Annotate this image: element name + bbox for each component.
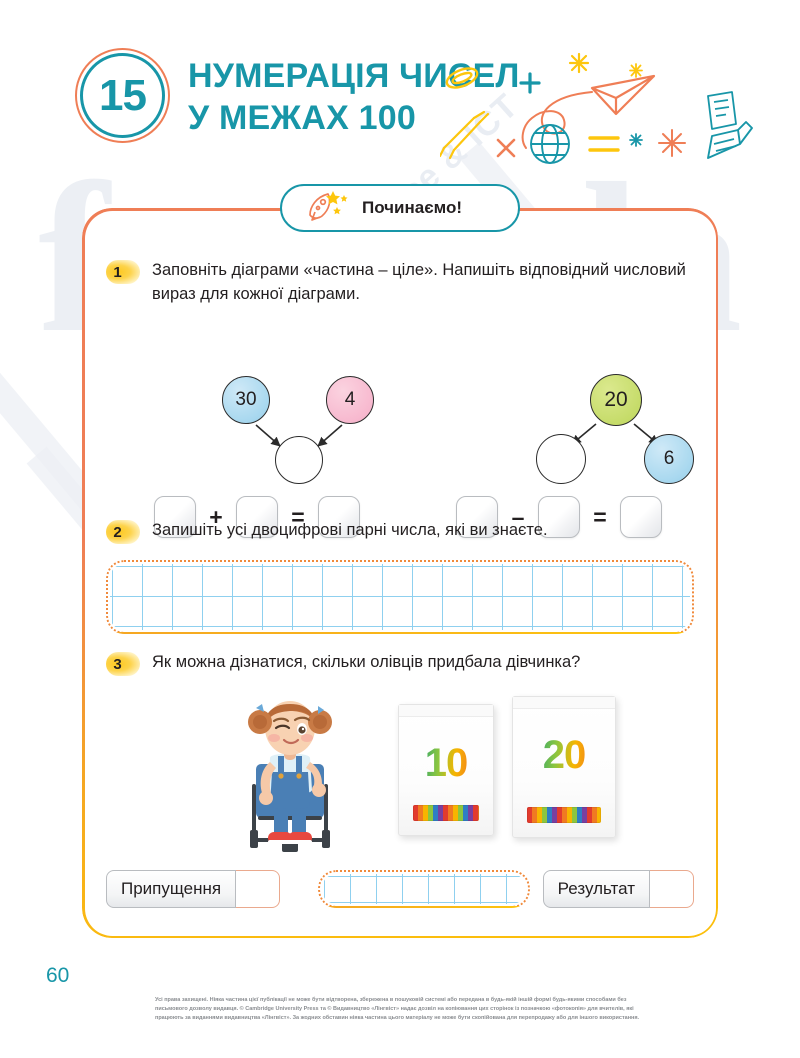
diagram-addition-part-1: 30: [222, 376, 270, 424]
plus-icon: [521, 74, 539, 92]
part-whole-diagrams: 30 4: [130, 376, 670, 486]
assumption-input[interactable]: [236, 870, 280, 908]
pencil-icon: [708, 122, 752, 158]
result-label: Результат: [543, 870, 650, 908]
rocket-icon: [304, 189, 350, 228]
girl-in-wheelchair-icon: [226, 690, 354, 858]
assumption-field: Припущення: [106, 870, 280, 908]
diagram-subtraction-whole: 20: [590, 374, 642, 426]
task-2: 2 Запишіть усі двоцифрові парні числа, я…: [106, 518, 694, 634]
compass-icon: [440, 112, 488, 158]
grid-lines: [110, 564, 690, 630]
pencil-box-20-lid: [513, 697, 615, 709]
pencil-box-20-pencils: [527, 807, 601, 823]
assumption-label: Припущення: [106, 870, 236, 908]
result-input[interactable]: [650, 870, 694, 908]
star-burst-icon: [659, 130, 685, 156]
task-1: 1 Заповніть діаграми «частина – ціле». Н…: [106, 258, 694, 306]
sparkle-icon: [570, 54, 588, 72]
sparkle-small-icon: [630, 134, 642, 146]
header-doodles: [440, 52, 770, 164]
diagram-subtraction-part-2: 6: [644, 434, 694, 484]
result-field: Результат: [543, 870, 694, 908]
multiply-icon: [498, 140, 514, 156]
task-3-text: Як можна дізнатися, скільки олівців прид…: [152, 650, 580, 674]
lesson-number-badge: 15: [75, 48, 170, 143]
task-2-number: 2: [106, 520, 140, 544]
diagram-addition-whole[interactable]: [275, 436, 323, 484]
stars-icon: [326, 191, 348, 214]
task-3-head: 3 Як можна дізнатися, скільки олівців пр…: [106, 650, 694, 676]
globe-icon: [531, 125, 569, 163]
task-2-answer-grid[interactable]: [106, 560, 694, 634]
start-banner: Починаємо!: [280, 184, 520, 232]
diagram-subtraction-part-1[interactable]: [536, 434, 586, 484]
paper-plane-icon: [592, 76, 654, 114]
worksheet-card: Починаємо! 1 Заповніть діаграми «частина…: [82, 208, 718, 938]
middle-grid-lines: [322, 874, 526, 904]
equals-icon: [590, 138, 618, 150]
pencil-box-10-lid: [399, 705, 493, 717]
diagram-addition-part-2: 4: [326, 376, 374, 424]
task-1-text: Заповніть діаграми «частина – ціле». Нап…: [152, 258, 694, 306]
asterisk-icon: [630, 64, 642, 77]
middle-answer-grid[interactable]: [318, 870, 530, 908]
middle-grid-underline: [320, 906, 528, 908]
diagram-subtraction: 20 6: [520, 376, 730, 486]
task-3: 3 Як можна дізнатися, скільки олівців пр…: [106, 650, 694, 676]
copyright-footer: Усі права захищені. Ніяка частина цієї п…: [155, 996, 655, 1023]
note-icon: [708, 92, 736, 129]
pencil-box-10-number: 10: [399, 741, 493, 786]
lesson-number: 15: [75, 48, 170, 143]
pencil-box-10: 10: [398, 704, 494, 836]
pencil-box-20: 20: [512, 696, 616, 838]
diagram-addition: 30 4: [218, 376, 428, 486]
task-2-text: Запишіть усі двоцифрові парні числа, які…: [152, 518, 548, 542]
task-2-head: 2 Запишіть усі двоцифрові парні числа, я…: [106, 518, 694, 544]
grid-underline: [108, 632, 692, 634]
pencil-box-10-pencils: [413, 805, 479, 821]
banner-label: Починаємо!: [362, 198, 462, 218]
page-header: 15 НУМЕРАЦІЯ ЧИСЕЛ У МЕЖАХ 100: [0, 0, 800, 170]
paperclip-icon: [444, 65, 480, 92]
pencil-box-20-number: 20: [513, 733, 615, 778]
answer-button-row: Припущення Результат: [106, 870, 694, 910]
task-3-number: 3: [106, 652, 140, 676]
task-1-head: 1 Заповніть діаграми «частина – ціле». Н…: [106, 258, 694, 306]
page-number: 60: [46, 964, 69, 988]
task-1-number: 1: [106, 260, 140, 284]
task-3-illustration: 10 20: [130, 690, 670, 860]
